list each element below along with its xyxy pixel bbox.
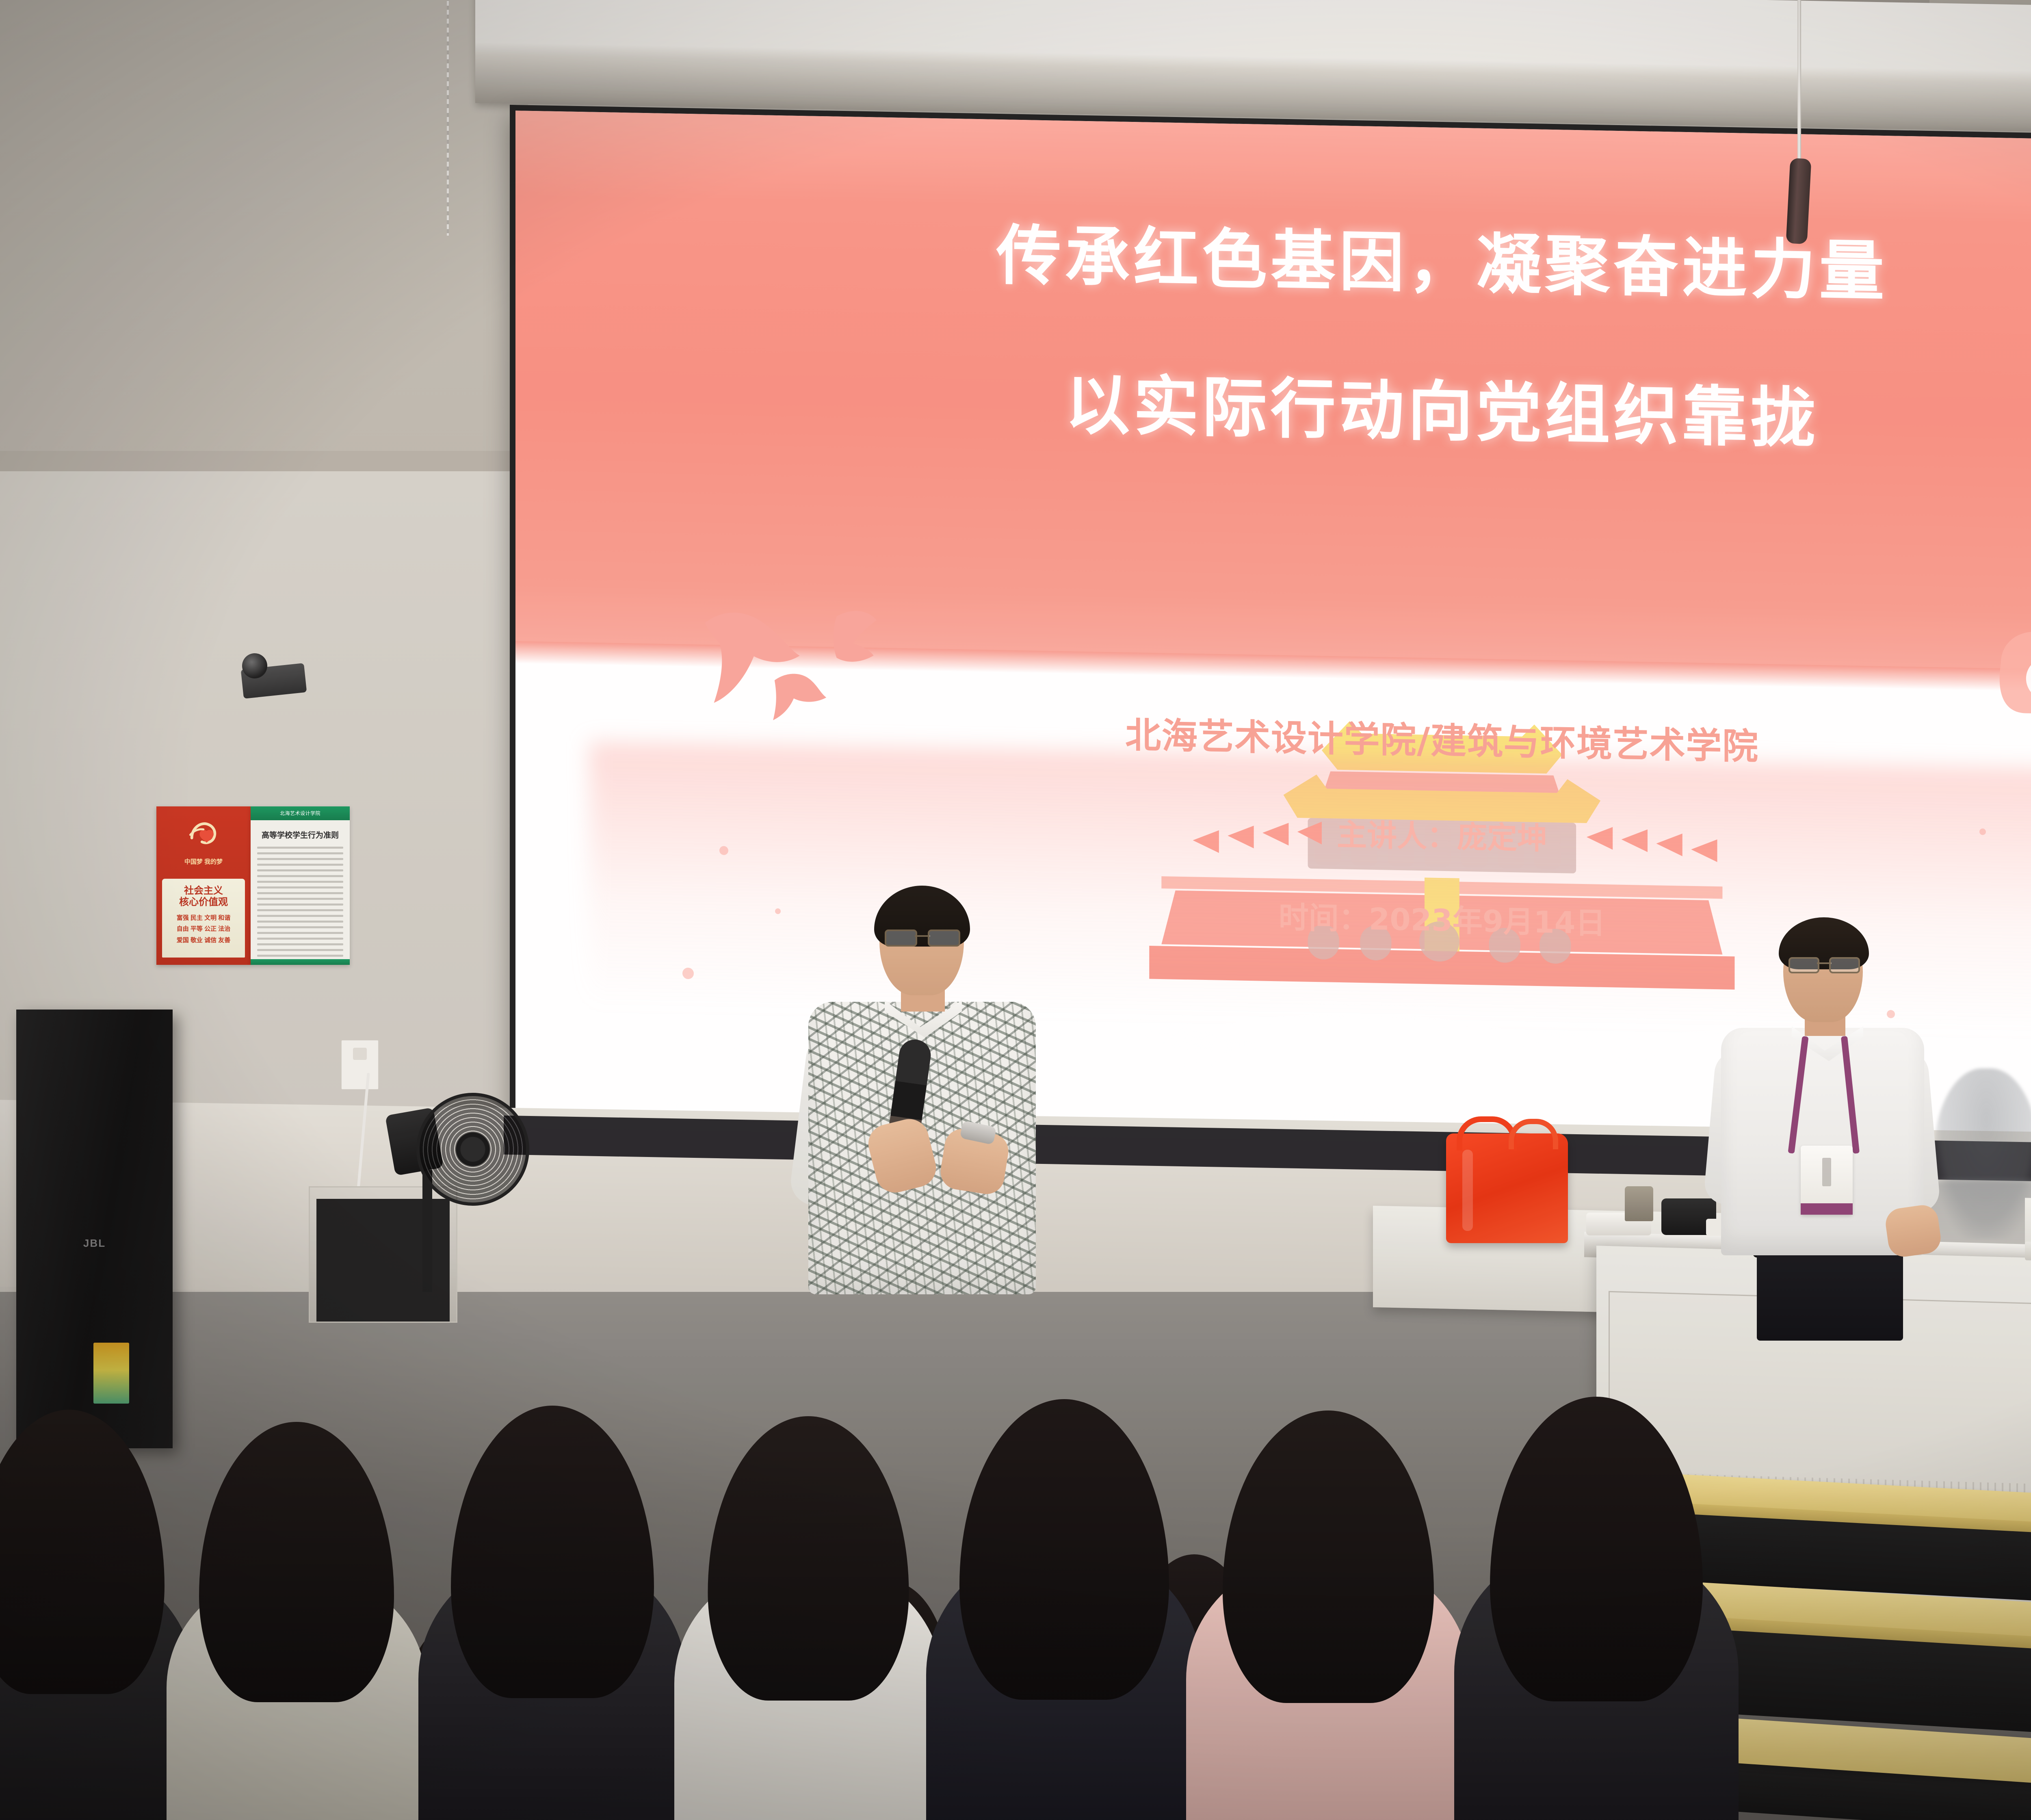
poster-values-row: 富强 民主 文明 和谐: [162, 912, 245, 924]
audience-member: [1186, 1353, 1470, 1820]
poster-student-code-of-conduct: 北海艺术设计学院 高等学校学生行为准则: [251, 806, 350, 965]
poster-green-footer: [251, 959, 350, 965]
audience-member: [674, 1361, 942, 1820]
host-trousers: [1757, 1247, 1903, 1341]
slide-speck: [682, 967, 694, 979]
audience-member: [1454, 1332, 1739, 1820]
jbl-logo: JBL: [83, 1237, 106, 1250]
side-cabinet: [309, 1186, 457, 1323]
pull-cord-handle[interactable]: [1786, 158, 1812, 244]
wall-upper-left: [0, 0, 528, 471]
screen-chain[interactable]: [447, 0, 449, 236]
poster-green-title: 高等学校学生行为准则: [251, 829, 350, 840]
audience-member: [167, 1369, 427, 1820]
audience-member: [418, 1345, 686, 1820]
poster-values-list: 富强 民主 文明 和谐 自由 平等 公正 法治 爱国 敬业 诚信 友善: [162, 912, 245, 946]
poster-values-row: 自由 平等 公正 法治: [162, 923, 245, 935]
poster-green-logo: 北海艺术设计学院: [251, 806, 350, 820]
glasses-icon: [1788, 957, 1860, 970]
dream-emblem-icon: [184, 815, 223, 854]
id-badge: [1801, 1146, 1853, 1215]
gooseneck-mic-base: [2025, 1241, 2031, 1262]
poster-core-socialist-values: 中国梦 我的梦 社会主义核心价值观 富强 民主 文明 和谐 自由 平等 公正 法…: [156, 806, 251, 965]
projector-pull-cord[interactable]: [1797, 0, 1801, 162]
desk-cup[interactable]: [1625, 1186, 1653, 1221]
presenter-speaker: [784, 886, 1052, 1365]
poster-card-title: 社会主义核心价值观: [162, 885, 245, 908]
audience-seating: [0, 1320, 1763, 1820]
host-hand-right: [1884, 1203, 1942, 1259]
poster-green-body: [257, 847, 343, 957]
camera-lens-icon: [242, 653, 267, 678]
fan-pole: [422, 1170, 432, 1292]
poster-green-header: 北海艺术设计学院: [251, 806, 350, 820]
poster-values-row: 爱国 敬业 诚信 友善: [162, 935, 245, 946]
lecture-hall-scene: 传承红色基因，凝聚奋进力量 以实际行动向党组织靠拢: [0, 0, 2031, 1820]
bag-fold-highlight: [1462, 1150, 1473, 1231]
poster-values-card: 社会主义核心价值观 富强 民主 文明 和谐 自由 平等 公正 法治 爱国 敬业 …: [162, 879, 245, 958]
glasses-icon: [885, 929, 960, 943]
wall-outlet-left[interactable]: [341, 1040, 379, 1090]
poster-emblem-caption: 中国梦 我的梦: [156, 858, 251, 866]
audience-member: [926, 1337, 1202, 1820]
host-staff: [1696, 914, 1940, 1320]
audience-member: [0, 1353, 195, 1820]
